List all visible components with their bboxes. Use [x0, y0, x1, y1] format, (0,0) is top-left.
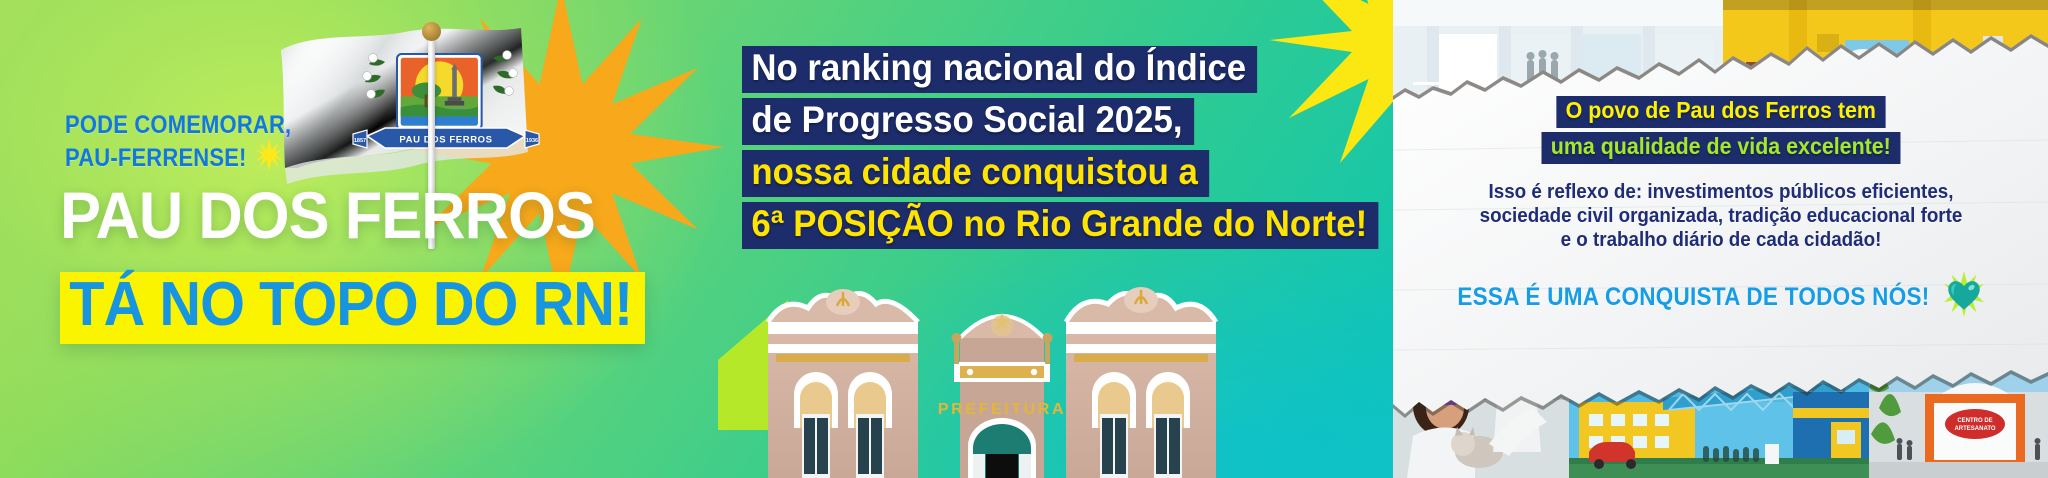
right-headline-line-2: uma qualidade de vida excelente! — [1541, 132, 1900, 164]
right-body-line-3: e o trabalho diário de cada cidadão! — [1457, 228, 1983, 252]
right-headline-line-1: O povo de Pau dos Ferros tem — [1556, 96, 1885, 128]
right-body-line-2: sociedade civil organizada, tradição edu… — [1457, 204, 1983, 228]
right-body-text: Isso é reflexo de: investimentos público… — [1457, 180, 1983, 253]
headline-band-text: TÁ NO TOPO DO RN! — [69, 276, 632, 335]
kicker-text: PODE COMEMORAR, PAU-FERRENSE! — [65, 112, 435, 178]
right-final-line-row: ESSA É UMA CONQUISTA DE TODOS NÓS! — [1442, 271, 2000, 317]
center-line-2: de Progresso Social 2025, — [742, 98, 1194, 145]
center-line-1: No ranking nacional do Índice — [742, 46, 1257, 93]
sparkle-icon — [255, 138, 285, 177]
center-line-4: 6ª POSIÇÃO no Rio Grande do Norte! — [742, 202, 1378, 249]
right-body-line-1: Isso é reflexo de: investimentos público… — [1457, 180, 1983, 204]
kicker-line-1: PODE COMEMORAR, — [65, 112, 435, 138]
center-line-3: nossa cidade conquistou a — [742, 150, 1209, 197]
page-title: PAU DOS FERROS — [60, 185, 595, 246]
teal-heart-icon — [1943, 271, 1984, 317]
flag-finial — [422, 22, 441, 41]
kicker-line-2: PAU-FERRENSE! — [65, 145, 247, 171]
city-hall-photo: PREFEITURA — [742, 278, 1242, 478]
promotional-banner: PAU DOS FERROS 1857 1936 PODE COMEMORAR,… — [0, 0, 2048, 478]
right-message: O povo de Pau dos Ferros tem uma qualida… — [1393, 0, 2048, 478]
headline-highlight-band: TÁ NO TOPO DO RN! — [60, 272, 645, 344]
building-sign-label: PREFEITURA — [938, 401, 1066, 418]
right-panel: CENTRO DE ARTESANATO — [1393, 0, 2048, 478]
right-final-line: ESSA É UMA CONQUISTA DE TODOS NÓS! — [1457, 283, 1929, 311]
kicker-line-2-row: PAU-FERRENSE! — [65, 138, 435, 177]
svg-text:1936: 1936 — [526, 138, 538, 144]
